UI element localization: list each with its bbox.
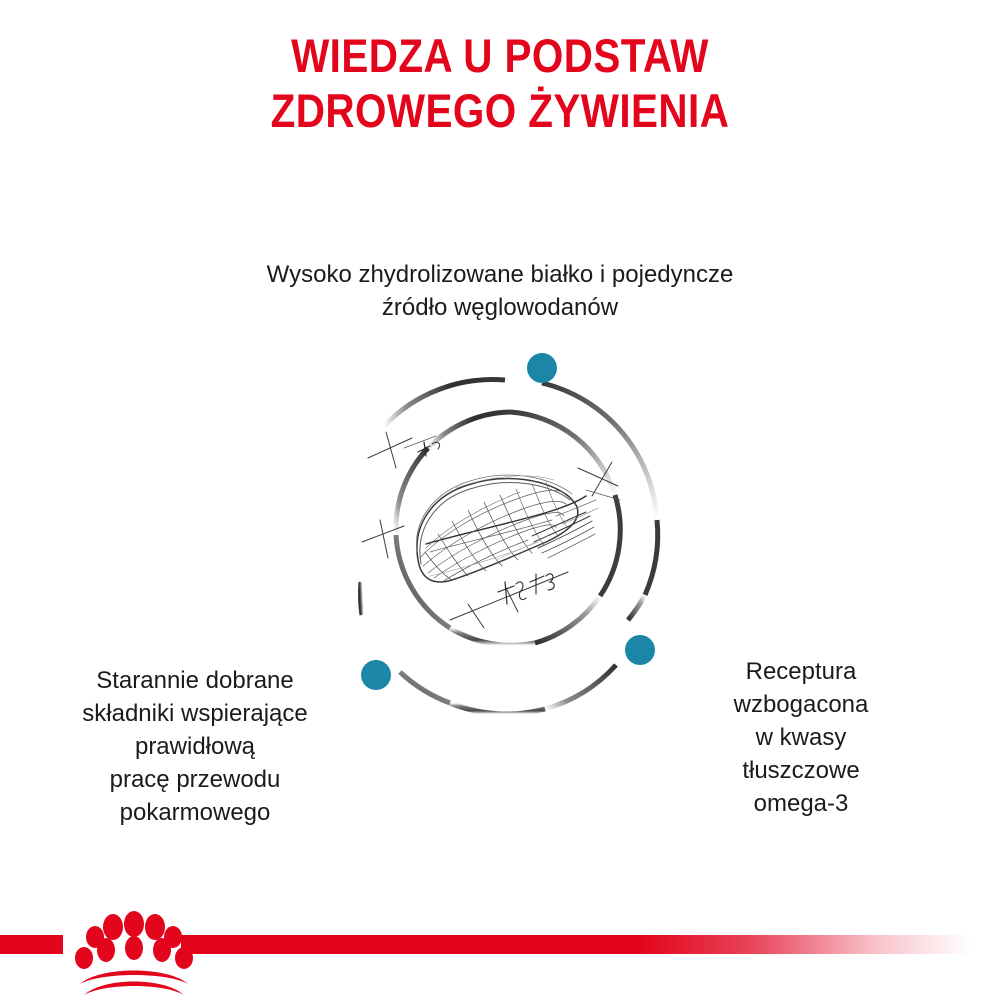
footer-bar-right xyxy=(181,935,971,954)
dot-top[interactable] xyxy=(527,353,557,383)
royal-canin-crown-icon xyxy=(75,911,193,995)
footer xyxy=(0,900,1000,1000)
callout-right-line-4: tłuszczowe xyxy=(676,754,926,787)
kibble-sketch-illustration xyxy=(362,432,620,628)
inner-ring-arc xyxy=(396,412,620,645)
outer-ring-arc xyxy=(361,379,658,714)
callout-right-line-5: omega-3 xyxy=(676,787,926,820)
product-diagram xyxy=(300,320,720,740)
page-title-line-2: ZDROWEGO ŻYWIENIA xyxy=(70,83,930,138)
callout-top-line-1: Wysoko zhydrolizowane białko i pojedyncz… xyxy=(190,258,810,291)
callout-top: Wysoko zhydrolizowane białko i pojedyncz… xyxy=(190,258,810,324)
dot-right[interactable] xyxy=(625,635,655,665)
callout-left-line-5: pokarmowego xyxy=(35,796,355,829)
dot-left[interactable] xyxy=(361,660,391,690)
footer-bar-left xyxy=(0,935,63,954)
callout-left-line-4: pracę przewodu xyxy=(35,763,355,796)
page-title: WIEDZA U PODSTAW ZDROWEGO ŻYWIENIA xyxy=(70,28,930,138)
page-title-line-1: WIEDZA U PODSTAW xyxy=(70,28,930,83)
